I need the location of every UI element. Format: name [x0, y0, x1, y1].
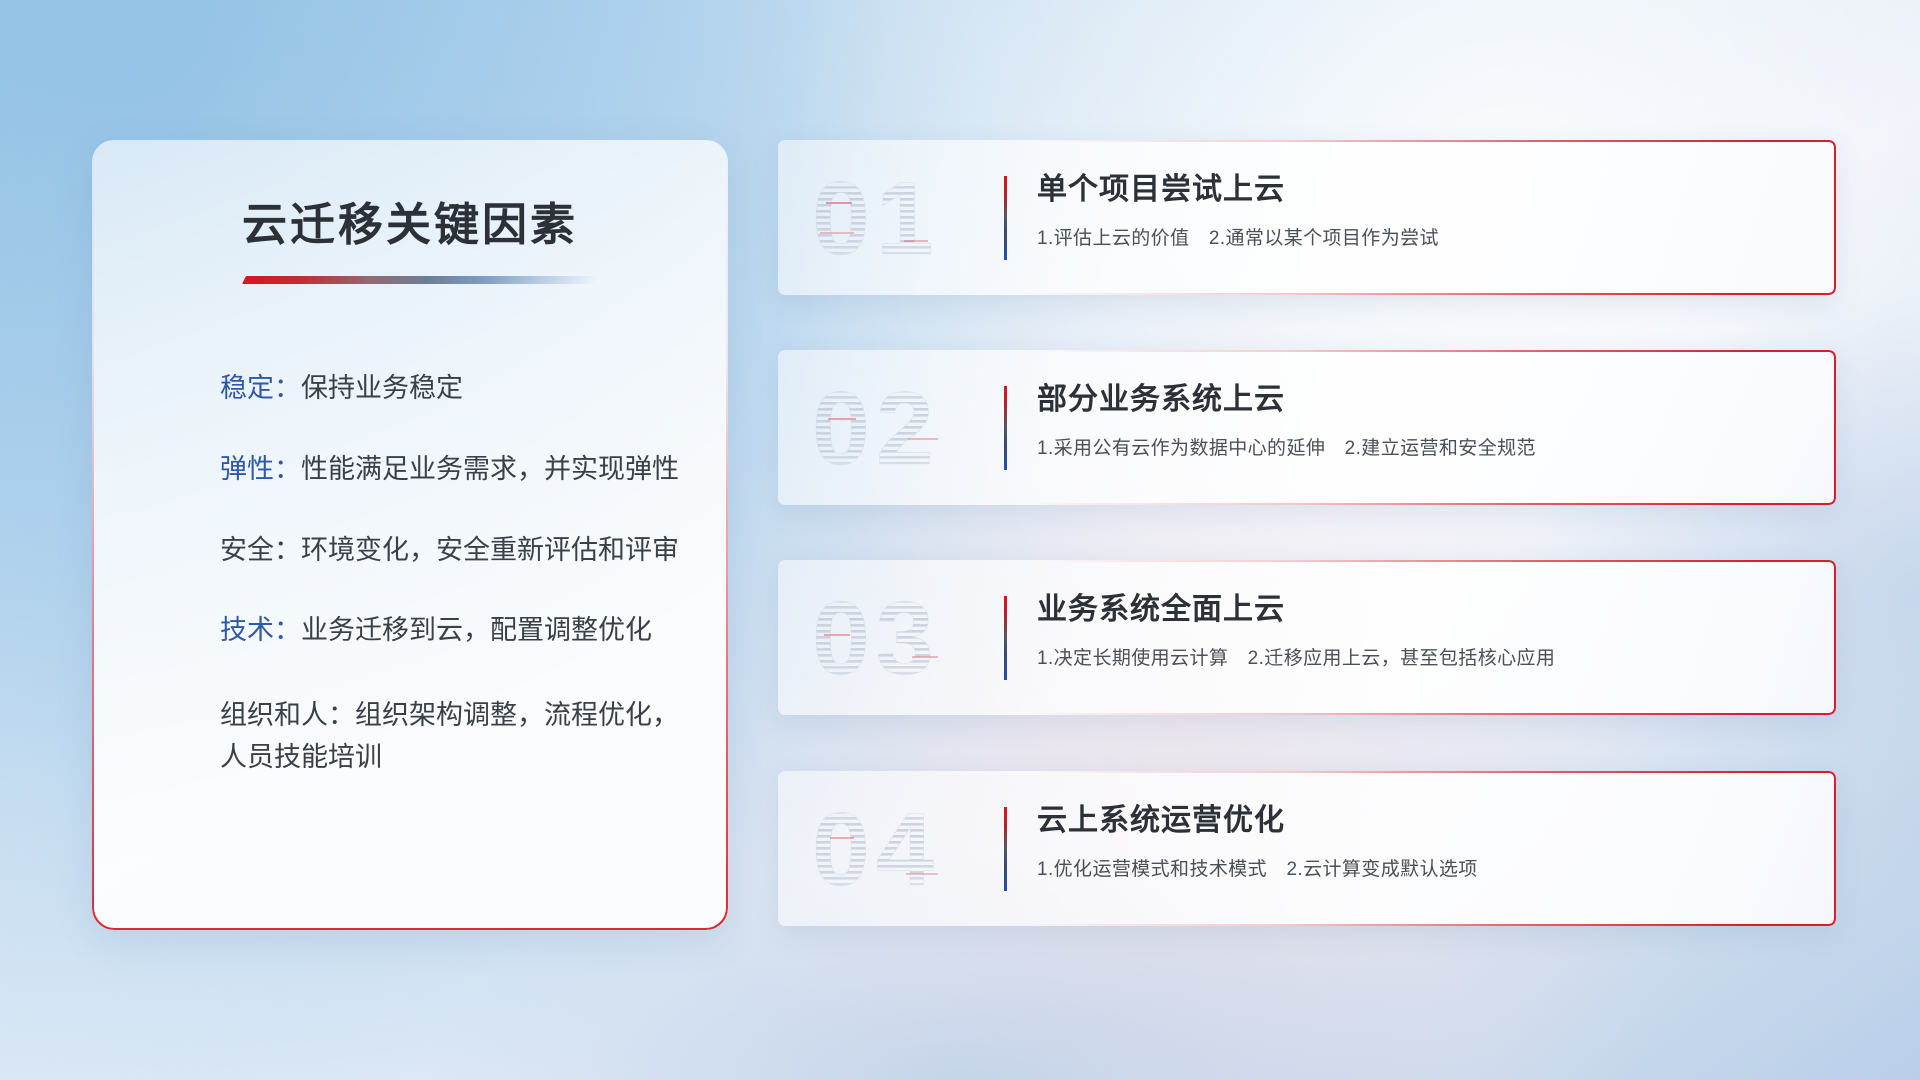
step-content: 云上系统运营优化 1.优化运营模式和技术模式 2.云计算变成默认选项 [1037, 803, 1810, 881]
factor-label: 技术： [220, 615, 301, 645]
factor-label: 安全： [220, 535, 301, 565]
factor-value: 环境变化，安全重新评估和评审 [301, 535, 679, 565]
step-number-01: 01 01 [808, 162, 998, 274]
key-factors-panel: 云迁移关键因素 稳定：保持业务稳定 弹性：性能满足业务需求，并实现弹性 安全：环… [92, 140, 728, 930]
slide-canvas: 云迁移关键因素 稳定：保持业务稳定 弹性：性能满足业务需求，并实现弹性 安全：环… [0, 0, 1920, 1080]
step-title: 部分业务系统上云 [1037, 382, 1810, 418]
factor-value: 性能满足业务需求，并实现弹性 [301, 454, 679, 484]
step-divider-bar [1004, 386, 1007, 470]
page-title: 云迁移关键因素 [92, 188, 728, 253]
factor-label: 组织和人： [220, 700, 355, 730]
list-item: 弹性：性能满足业务需求，并实现弹性 [220, 453, 682, 487]
factor-value: 保持业务稳定 [301, 373, 463, 403]
factor-value: 业务迁移到云，配置调整优化 [301, 615, 652, 645]
step-content: 部分业务系统上云 1.采用公有云作为数据中心的延伸 2.建立运营和安全规范 [1037, 382, 1810, 460]
factor-label: 稳定： [220, 373, 301, 403]
factor-label: 弹性： [220, 454, 301, 484]
step-content: 单个项目尝试上云 1.评估上云的价值 2.通常以某个项目作为尝试 [1037, 172, 1810, 250]
list-item: 技术：业务迁移到云，配置调整优化 [220, 614, 682, 648]
step-divider-bar [1004, 176, 1007, 260]
step-number-03: 03 03 [808, 582, 998, 694]
list-item: 安全：环境变化，安全重新评估和评审 [220, 534, 682, 568]
step-description: 1.采用公有云作为数据中心的延伸 2.建立运营和安全规范 [1037, 433, 1810, 460]
step-number-02: 02 02 [808, 372, 998, 484]
svg-text:02: 02 [812, 372, 940, 484]
step-description: 1.决定长期使用云计算 2.迁移应用上云，甚至包括核心应用 [1037, 643, 1810, 670]
step-card-01[interactable]: 01 01 单个项目尝试上云 1.评估上云的价值 2.通常以某个项目作为尝试 [778, 140, 1836, 295]
step-title: 单个项目尝试上云 [1037, 172, 1810, 208]
step-card-03[interactable]: 03 03 业务系统全面上云 1.决定长期使用云计算 2.迁移应用上云，甚至包括… [778, 560, 1836, 715]
key-factor-list: 稳定：保持业务稳定 弹性：性能满足业务需求，并实现弹性 安全：环境变化，安全重新… [220, 372, 682, 791]
step-divider-bar [1004, 596, 1007, 680]
step-title: 业务系统全面上云 [1037, 592, 1810, 628]
svg-text:03: 03 [812, 582, 940, 694]
title-underline-accent [242, 276, 598, 284]
step-description: 1.优化运营模式和技术模式 2.云计算变成默认选项 [1037, 854, 1810, 881]
step-description: 1.评估上云的价值 2.通常以某个项目作为尝试 [1037, 223, 1810, 250]
step-divider-bar [1004, 807, 1007, 891]
svg-text:01: 01 [812, 162, 940, 274]
step-title: 云上系统运营优化 [1037, 803, 1810, 839]
svg-text:04: 04 [812, 793, 940, 905]
step-number-04: 04 04 [808, 793, 998, 905]
list-item: 稳定：保持业务稳定 [220, 372, 682, 406]
step-card-02[interactable]: 02 02 部分业务系统上云 1.采用公有云作为数据中心的延伸 2.建立运营和安… [778, 350, 1836, 505]
step-content: 业务系统全面上云 1.决定长期使用云计算 2.迁移应用上云，甚至包括核心应用 [1037, 592, 1810, 670]
step-card-04[interactable]: 04 04 云上系统运营优化 1.优化运营模式和技术模式 2.云计算变成默认选项 [778, 771, 1836, 926]
list-item: 组织和人：组织架构调整，流程优化，人员技能培训 [220, 695, 682, 779]
